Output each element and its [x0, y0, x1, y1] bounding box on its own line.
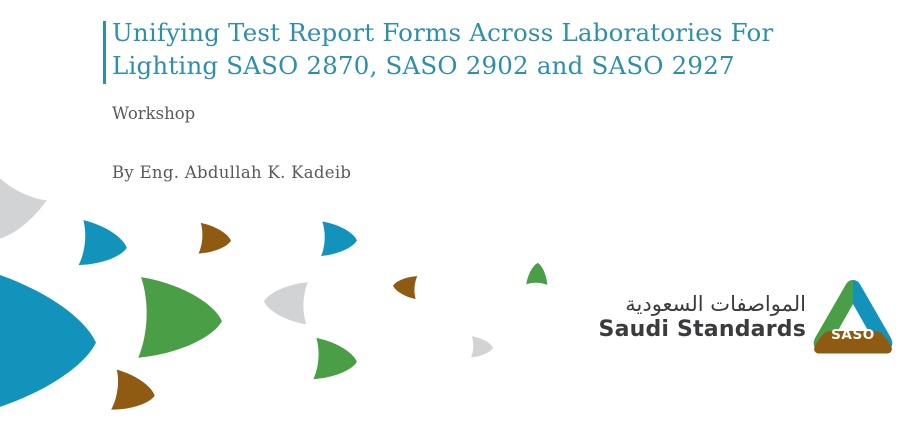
- wedge-gray-mid: [263, 281, 308, 325]
- wedge-brown-b: [111, 370, 157, 416]
- wedge-brown-small: [392, 274, 417, 299]
- wedge-brown-a: [199, 223, 232, 256]
- wedge-gray-topleft: [0, 172, 47, 254]
- saso-wordmark: المواصفات السعودية Saudi Standards: [626, 292, 812, 343]
- saso-english-name: Saudi Standards: [599, 317, 806, 343]
- saso-arabic-name: المواصفات السعودية: [625, 292, 806, 317]
- title-accent-bar: [103, 21, 106, 84]
- wedge-green-mid: [313, 338, 358, 382]
- saso-triangle-icon: SASO: [812, 277, 894, 357]
- wedge-teal-small-b: [321, 221, 357, 257]
- page-title: Unifying Test Report Forms Across Labora…: [103, 16, 843, 82]
- presenter-byline: By Eng. Abdullah K. Kadeib: [112, 162, 351, 184]
- wedge-gray-small: [471, 336, 493, 358]
- saso-mark-base-band: [814, 331, 892, 354]
- saso-logo: المواصفات السعودية Saudi Standards SASO: [626, 275, 898, 359]
- wedge-large-teal: [0, 257, 96, 424]
- wedge-teal-small-a: [79, 220, 130, 270]
- wedge-green-large: [138, 277, 223, 360]
- wedge-green-small: [526, 263, 548, 285]
- subtitle: Workshop: [112, 103, 195, 125]
- title-block: Unifying Test Report Forms Across Labora…: [103, 16, 843, 82]
